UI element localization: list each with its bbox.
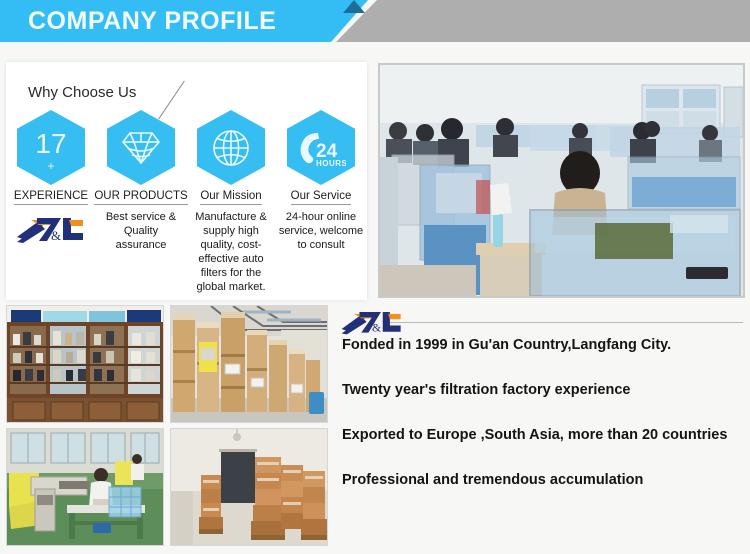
- about-line-professional: Professional and tremendous accumulation: [342, 471, 742, 490]
- feature-item-products: OUR PRODUCTS Best service & Quality assu…: [96, 110, 186, 294]
- panel-title: Why Choose Us: [28, 84, 136, 101]
- warehouse-paper-rolls-photo: [170, 305, 328, 423]
- feature-item-mission: Our Mission Manufacture & supply high qu…: [186, 110, 276, 294]
- why-choose-us-panel: Why Choose Us 17 + EXPERIENCE: [6, 62, 367, 300]
- production-workshop-photo: [6, 428, 164, 546]
- page-header: COMPANY PROFILE: [0, 0, 750, 46]
- svg-text:&: &: [372, 322, 381, 335]
- about-line-experience: Twenty year's filtration factory experie…: [342, 381, 742, 400]
- packed-cartons-warehouse-photo: [170, 428, 328, 546]
- feature-item-experience: 17 + EXPERIENCE &: [6, 110, 96, 294]
- company-logo-zl: &: [13, 211, 89, 245]
- feature-label-mission: Our Mission: [200, 190, 261, 205]
- product-showroom-shelves-photo: [6, 305, 164, 423]
- company-logo-zl: &: [338, 305, 406, 337]
- svg-text:&: &: [51, 228, 61, 243]
- office-cubicles-photo: [378, 63, 745, 298]
- service-hours-text: HOURS: [316, 159, 346, 168]
- feature-label-products: OUR PRODUCTS: [94, 190, 187, 205]
- logo-under-experience: &: [13, 211, 89, 245]
- about-line-export: Exported to Europe ,South Asia, more tha…: [342, 426, 742, 445]
- globe-icon: [197, 110, 265, 185]
- about-company-block: & Fonded in 1999 in Gu'an Country,Langfa…: [336, 300, 746, 550]
- company-profile-page: COMPANY PROFILE Why Choose Us 17 + EXPER…: [0, 0, 750, 554]
- about-lines: Fonded in 1999 in Gu'an Country,Langfang…: [342, 336, 742, 516]
- about-divider-rule: [388, 322, 743, 323]
- feature-hexagon-row: 17 + EXPERIENCE &: [6, 110, 367, 294]
- experience-years-number: 17: [35, 130, 66, 158]
- about-line-founded: Fonded in 1999 in Gu'an Country,Langfang…: [342, 336, 742, 355]
- years-17-plus-icon: 17 +: [17, 110, 85, 185]
- feature-label-experience: EXPERIENCE: [14, 190, 88, 205]
- page-title: COMPANY PROFILE: [28, 7, 276, 36]
- feature-desc-mission: Manufacture & supply high quality, cost-…: [187, 210, 275, 294]
- feature-desc-service: 24-hour online service, welcome to consu…: [277, 210, 365, 252]
- experience-plus-sign: +: [17, 159, 85, 173]
- header-gray-shape: [300, 0, 750, 42]
- phone-24-hours-icon: 24 HOURS: [287, 110, 355, 185]
- diamond-icon: [107, 110, 175, 185]
- feature-label-service: Our Service: [291, 190, 352, 205]
- feature-desc-products: Best service & Quality assurance: [97, 210, 185, 252]
- feature-item-service: 24 HOURS Our Service 24-hour online serv…: [276, 110, 366, 294]
